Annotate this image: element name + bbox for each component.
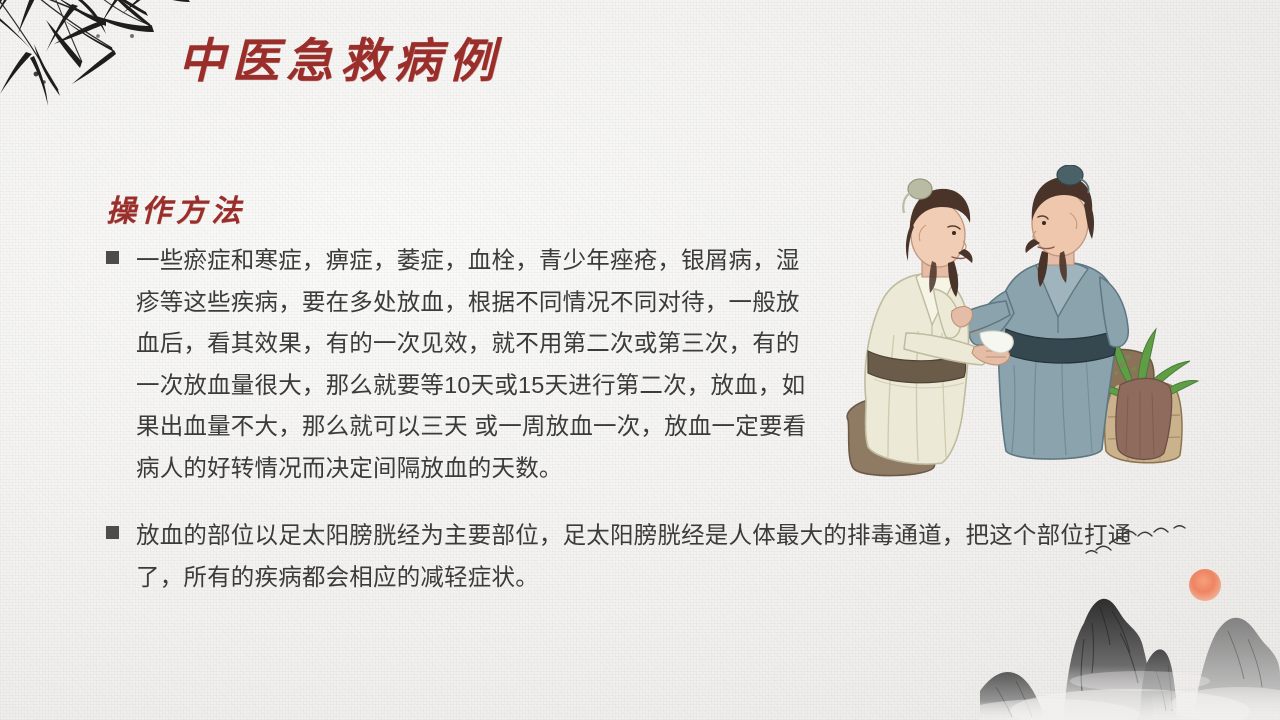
page-title: 中医急救病例 bbox=[178, 24, 778, 100]
bamboo-branch-icon bbox=[0, 0, 196, 158]
bullet-square-icon bbox=[106, 526, 119, 539]
bullet-square-icon bbox=[106, 251, 119, 264]
list-item: 一些瘀症和寒症，痹症，萎症，血栓，青少年痤疮，银屑病，湿 疹等这些疾病，要在多处… bbox=[106, 240, 1216, 489]
list-item-text: 一些瘀症和寒症，痹症，萎症，血栓，青少年痤疮，银屑病，湿 疹等这些疾病，要在多处… bbox=[136, 240, 836, 489]
body-content: 一些瘀症和寒症，痹症，萎症，血栓，青少年痤疮，银屑病，湿 疹等这些疾病，要在多处… bbox=[106, 240, 1216, 598]
section-heading: 操作方法 bbox=[106, 186, 246, 230]
list-item: 放血的部位以足太阳膀胱经为主要部位，足太阳膀胱经是人体最大的排毒通道，把这个部位… bbox=[106, 515, 1216, 598]
page-title-text: 中医急救病例 bbox=[178, 24, 778, 100]
slide-canvas: 中医急救病例 操作方法 一些瘀症和寒症，痹症，萎症，血栓，青少年痤疮，银屑病，湿… bbox=[0, 0, 1280, 720]
list-item-text: 放血的部位以足太阳膀胱经为主要部位，足太阳膀胱经是人体最大的排毒通道，把这个部位… bbox=[136, 515, 1206, 598]
